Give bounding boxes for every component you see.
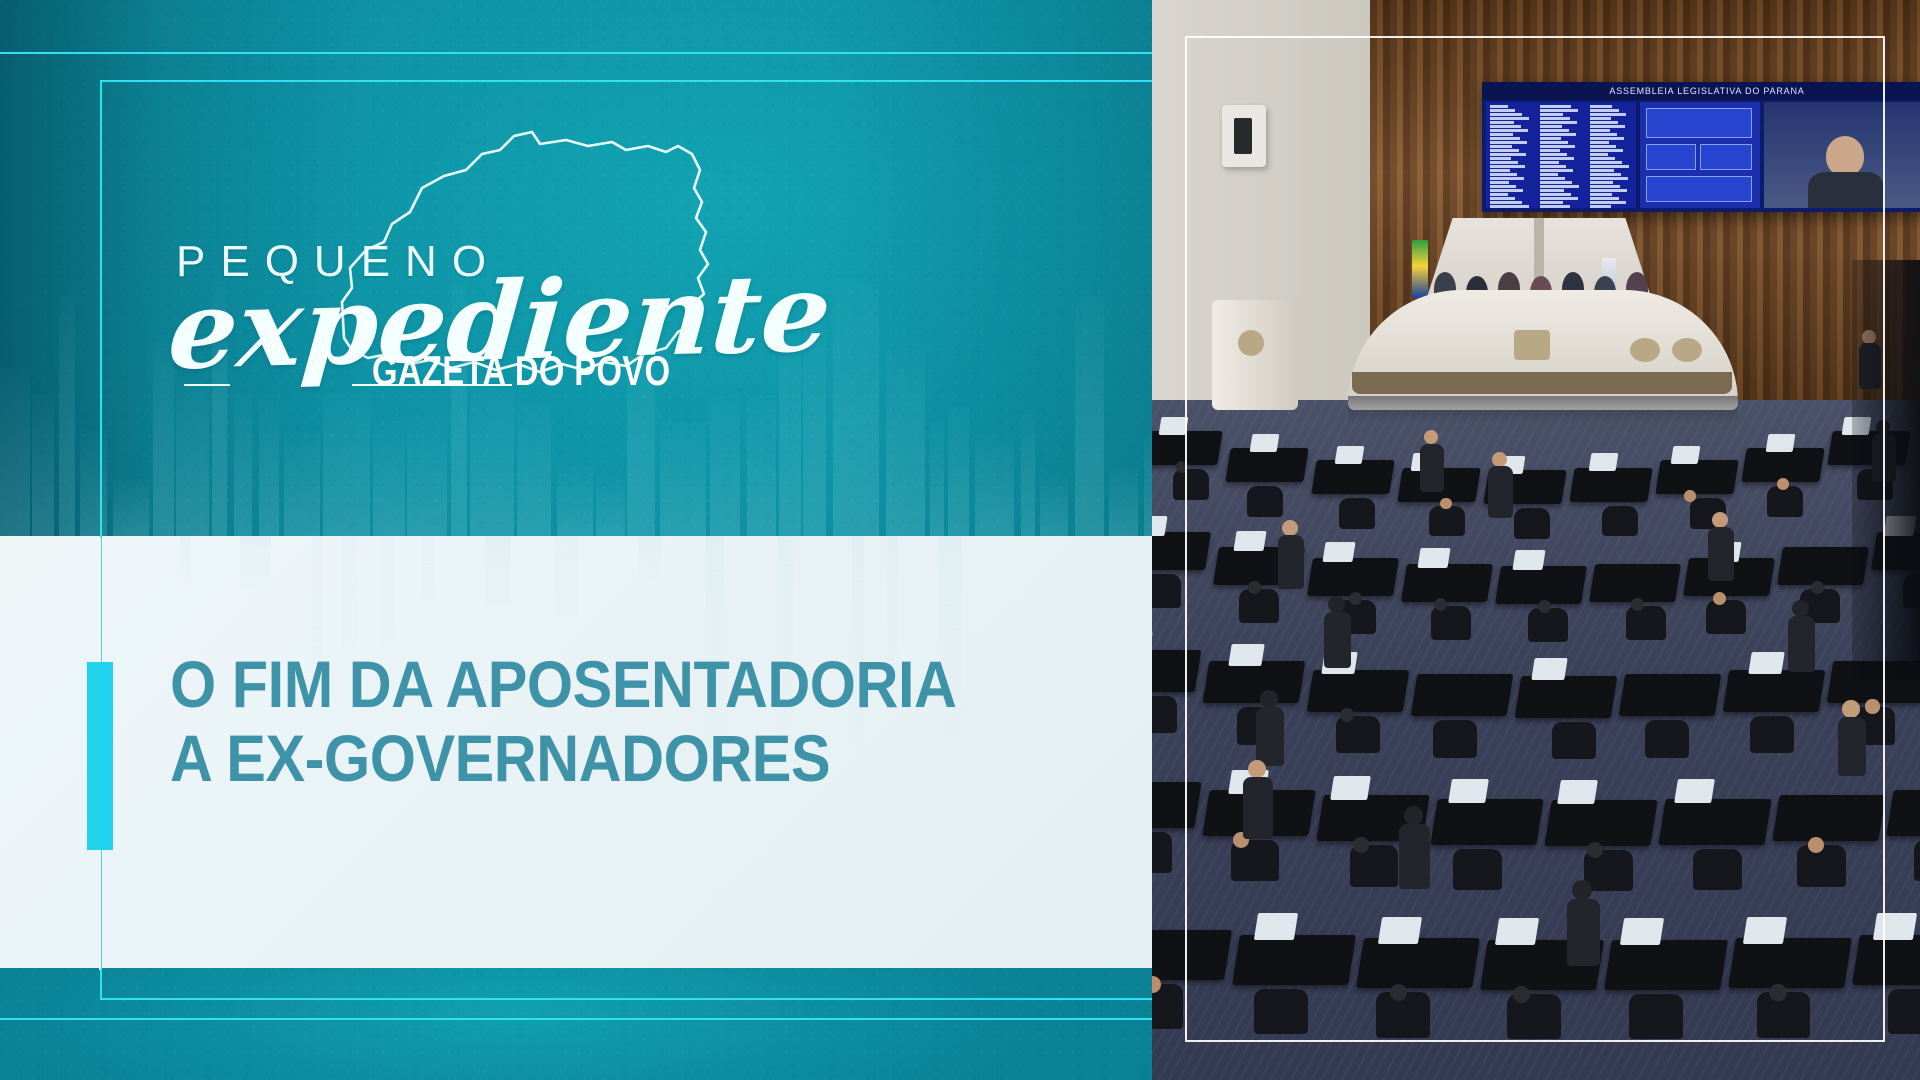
left-panel: PEQUENO expediente GAZETA DO POVO O FIM … xyxy=(0,0,1152,1080)
program-logo: PEQUENO expediente GAZETA DO POVO xyxy=(176,92,736,382)
deputy-chair xyxy=(1152,696,1177,733)
headline-line-2: A EX-GOVERNADORES xyxy=(170,722,980,796)
skyline-building xyxy=(32,395,54,536)
photo-inner-frame xyxy=(1185,36,1885,1042)
deputy-chair xyxy=(1152,832,1172,873)
deputy-chair xyxy=(1152,574,1181,608)
desk-monitor xyxy=(1158,417,1188,435)
skyline-building xyxy=(59,294,75,536)
hairline-below-accent xyxy=(99,850,101,970)
deputy-chair xyxy=(1888,989,1920,1035)
hairline-above-accent xyxy=(99,538,101,664)
publisher-name: GAZETA DO POVO xyxy=(372,350,670,392)
headline-line-1: O FIM DA APOSENTADORIA xyxy=(170,648,980,722)
social-card: PEQUENO expediente GAZETA DO POVO O FIM … xyxy=(0,0,1920,1080)
deputy-chair xyxy=(1914,840,1920,881)
skyline-building xyxy=(0,368,30,536)
page-title: O FIM DA APOSENTADORIA A EX-GOVERNADORES xyxy=(170,648,1070,796)
frame-line-top xyxy=(0,52,1152,54)
frame-line-bottom xyxy=(0,1018,1152,1020)
accent-bar xyxy=(87,662,113,850)
logo-rule-left xyxy=(184,384,230,386)
